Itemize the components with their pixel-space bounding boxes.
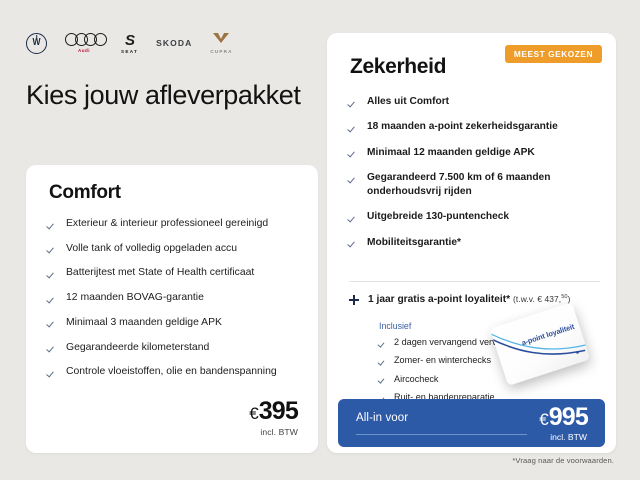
package-card-comfort[interactable]: Comfort Exterieur & interieur profession… <box>26 165 318 453</box>
feature-label: Exterieur & interieur professioneel gere… <box>66 217 268 231</box>
list-item: Exterieur & interieur professioneel gere… <box>48 217 302 231</box>
check-icon <box>349 173 358 182</box>
list-item: Batterijtest met State of Health certifi… <box>48 266 302 280</box>
cupra-logo-icon: CUPRA <box>210 33 232 54</box>
feature-label: Minimaal 12 maanden geldige APK <box>367 146 535 159</box>
check-icon <box>379 375 387 383</box>
loyalty-value: (t.w.v. € 437,50) <box>513 294 571 304</box>
price-rule <box>356 434 527 435</box>
zekerheid-feature-list: Alles uit Comfort 18 maanden a-point zek… <box>349 95 602 261</box>
zekerheid-price-note: incl. BTW <box>550 432 587 442</box>
check-icon <box>349 97 358 106</box>
comfort-price-block: €395 incl. BTW <box>249 399 298 437</box>
list-item: 2 dagen vervangend vervoer <box>379 337 510 348</box>
page-title: Kies jouw afleverpakket <box>26 80 300 112</box>
included-label-item: Aircocheck <box>394 374 438 385</box>
feature-label: Batterijtest met State of Health certifi… <box>66 266 254 280</box>
disclaimer-text: *Vraag naar de voorwaarden. <box>512 456 614 465</box>
check-icon <box>48 367 57 376</box>
feature-label: Uitgebreide 130-puntencheck <box>367 210 509 223</box>
check-icon <box>48 244 57 253</box>
zekerheid-price-value: 995 <box>549 403 588 431</box>
comfort-price-value: 395 <box>259 397 298 425</box>
list-item: Zomer- en winterchecks <box>379 355 510 366</box>
divider <box>349 281 600 282</box>
feature-label: Alles uit Comfort <box>367 95 449 108</box>
currency-symbol: € <box>249 404 258 423</box>
zekerheid-price: €995 <box>539 405 588 430</box>
loyalty-included-block: Inclusief 2 dagen vervangend vervoer Zom… <box>379 321 510 410</box>
list-item: 18 maanden a-point zekerheidsgarantie <box>349 120 602 133</box>
included-label-item: Zomer- en winterchecks <box>394 355 491 366</box>
check-icon <box>48 219 57 228</box>
comfort-title: Comfort <box>49 182 121 204</box>
check-icon <box>48 343 57 352</box>
loyalty-title: 1 jaar gratis a-point loyaliteit* <box>368 294 510 305</box>
check-icon <box>349 212 358 221</box>
list-item: Controle vloeistoffen, olie en bandenspa… <box>48 365 302 379</box>
zekerheid-title: Zekerheid <box>350 55 446 79</box>
audi-logo-label: Audi <box>78 48 90 53</box>
list-item: Mobiliteitsgarantie* <box>349 236 602 249</box>
list-item: Aircocheck <box>379 374 510 385</box>
list-item: 12 maanden BOVAG-garantie <box>48 291 302 305</box>
list-item: Minimaal 12 maanden geldige APK <box>349 146 602 159</box>
status-badge: MEEST GEKOZEN <box>505 45 602 63</box>
check-icon <box>349 148 358 157</box>
feature-label: Controle vloeistoffen, olie en bandenspa… <box>66 365 277 379</box>
feature-label: 12 maanden BOVAG-garantie <box>66 291 204 305</box>
loyalty-value-prefix: (t.w.v. € 437, <box>513 294 561 304</box>
brand-logo-bar: Audi S SEAT SKODA CUPRA <box>26 30 233 56</box>
cupra-logo-label: CUPRA <box>210 49 232 54</box>
check-icon <box>48 293 57 302</box>
check-icon <box>48 318 57 327</box>
list-item: Uitgebreide 130-puntencheck <box>349 210 602 223</box>
list-item: Gegarandeerde kilometerstand <box>48 341 302 355</box>
zekerheid-price-bar[interactable]: All-in voor €995 incl. BTW <box>338 399 605 447</box>
feature-label: Volle tank of volledig opgeladen accu <box>66 242 237 256</box>
list-item: Volle tank of volledig opgeladen accu <box>48 242 302 256</box>
feature-label: Mobiliteitsgarantie* <box>367 236 461 249</box>
list-item: Minimaal 3 maanden geldige APK <box>48 316 302 330</box>
skoda-logo-icon: SKODA <box>156 38 192 48</box>
list-item: Alles uit Comfort <box>349 95 602 108</box>
audi-logo-icon: Audi <box>65 33 103 53</box>
feature-label: Gegarandeerd 7.500 km of 6 maanden onder… <box>367 171 602 198</box>
allin-label: All-in voor <box>356 412 408 424</box>
feature-label: Gegarandeerde kilometerstand <box>66 341 209 355</box>
currency-symbol: € <box>539 410 548 429</box>
seat-logo-mark: S <box>125 33 134 48</box>
check-icon <box>379 356 387 364</box>
list-item: Gegarandeerd 7.500 km of 6 maanden onder… <box>349 171 602 198</box>
feature-label: 18 maanden a-point zekerheidsgarantie <box>367 120 558 133</box>
package-card-zekerheid[interactable]: MEEST GEKOZEN Zekerheid Alles uit Comfor… <box>327 33 616 453</box>
comfort-feature-list: Exterieur & interieur professioneel gere… <box>48 217 302 390</box>
promo-page: Audi S SEAT SKODA CUPRA Kies jouw afleve… <box>0 0 640 480</box>
comfort-price: €395 <box>249 399 298 424</box>
plus-icon <box>349 295 359 305</box>
skoda-logo-label: SKODA <box>156 38 192 48</box>
comfort-price-note: incl. BTW <box>249 427 298 437</box>
seat-logo-icon: S SEAT <box>121 33 138 54</box>
check-icon <box>349 122 358 131</box>
vw-logo-icon <box>26 33 47 54</box>
loyalty-title-wrap: 1 jaar gratis a-point loyaliteit* (t.w.v… <box>368 293 571 306</box>
check-icon <box>379 338 387 346</box>
check-icon <box>349 238 358 247</box>
feature-label: Minimaal 3 maanden geldige APK <box>66 316 222 330</box>
check-icon <box>48 268 57 277</box>
seat-logo-label: SEAT <box>121 49 138 54</box>
